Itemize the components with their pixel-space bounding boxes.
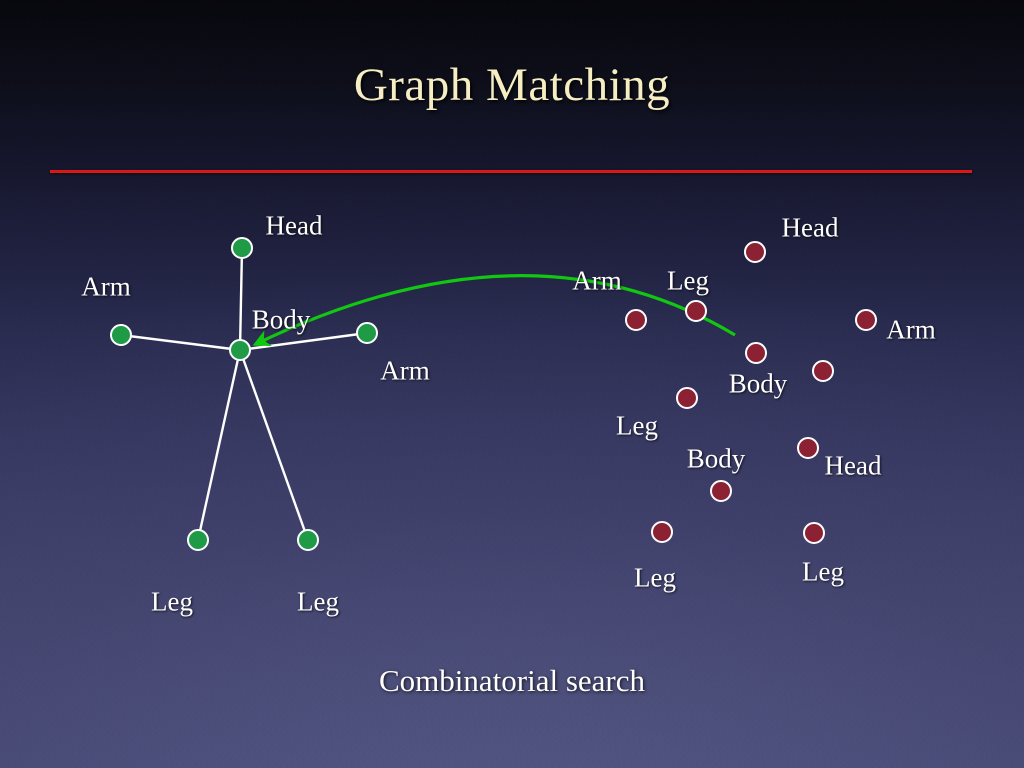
scene-node-s_leg_br[interactable] bbox=[803, 522, 825, 544]
slide-caption: Combinatorial search bbox=[0, 663, 1024, 699]
model-graph-edges bbox=[121, 248, 367, 540]
scene-node-s_leg_mid[interactable] bbox=[676, 387, 698, 409]
scene-node-s_arm_left[interactable] bbox=[625, 309, 647, 331]
scene-node-s_body_upper[interactable] bbox=[745, 342, 767, 364]
scene-label-s_leg_top: Leg bbox=[667, 266, 709, 297]
scene-label-s_body_lower: Body bbox=[687, 444, 746, 475]
scene-label-s_body_upper: Body bbox=[729, 369, 788, 400]
scene-label-s_arm_left: Arm bbox=[572, 266, 622, 297]
graph-edge-body-head bbox=[240, 248, 242, 350]
model-label-leg_right: Leg bbox=[297, 587, 339, 618]
model-node-leg_left[interactable] bbox=[187, 529, 209, 551]
match-arrow-layer bbox=[256, 276, 735, 344]
model-label-arm_left: Arm bbox=[81, 272, 131, 303]
scene-label-s_head_top: Head bbox=[782, 213, 839, 244]
model-node-arm_left[interactable] bbox=[110, 324, 132, 346]
slide-canvas: Graph Matching HeadArmBodyArmLegLegHeadA… bbox=[0, 0, 1024, 768]
model-node-body[interactable] bbox=[229, 339, 251, 361]
graph-edge-body-leg_left bbox=[198, 350, 240, 540]
scene-label-s_head_mid: Head bbox=[825, 451, 882, 482]
model-node-arm_right[interactable] bbox=[356, 322, 378, 344]
model-label-body: Body bbox=[252, 305, 311, 336]
model-node-leg_right[interactable] bbox=[297, 529, 319, 551]
scene-label-s_leg_bl: Leg bbox=[634, 563, 676, 594]
scene-node-s_leg_top[interactable] bbox=[685, 300, 707, 322]
model-label-leg_left: Leg bbox=[151, 587, 193, 618]
graph-drawing-surface bbox=[0, 0, 1024, 768]
scene-node-s_leg_bl[interactable] bbox=[651, 521, 673, 543]
scene-node-s_body_lower[interactable] bbox=[710, 480, 732, 502]
scene-node-s_plain_1[interactable] bbox=[812, 360, 834, 382]
model-label-head: Head bbox=[266, 211, 323, 242]
scene-label-s_arm_right: Arm bbox=[886, 315, 936, 346]
model-label-arm_right: Arm bbox=[380, 356, 430, 387]
match-arrow-path bbox=[256, 276, 735, 344]
graph-edge-body-arm_left bbox=[121, 335, 240, 350]
scene-node-s_head_mid[interactable] bbox=[797, 437, 819, 459]
scene-node-s_head_top[interactable] bbox=[744, 241, 766, 263]
scene-node-s_arm_right[interactable] bbox=[855, 309, 877, 331]
graph-edge-body-leg_right bbox=[240, 350, 308, 540]
scene-label-s_leg_br: Leg bbox=[802, 557, 844, 588]
model-node-head[interactable] bbox=[231, 237, 253, 259]
scene-label-s_leg_mid: Leg bbox=[616, 411, 658, 442]
